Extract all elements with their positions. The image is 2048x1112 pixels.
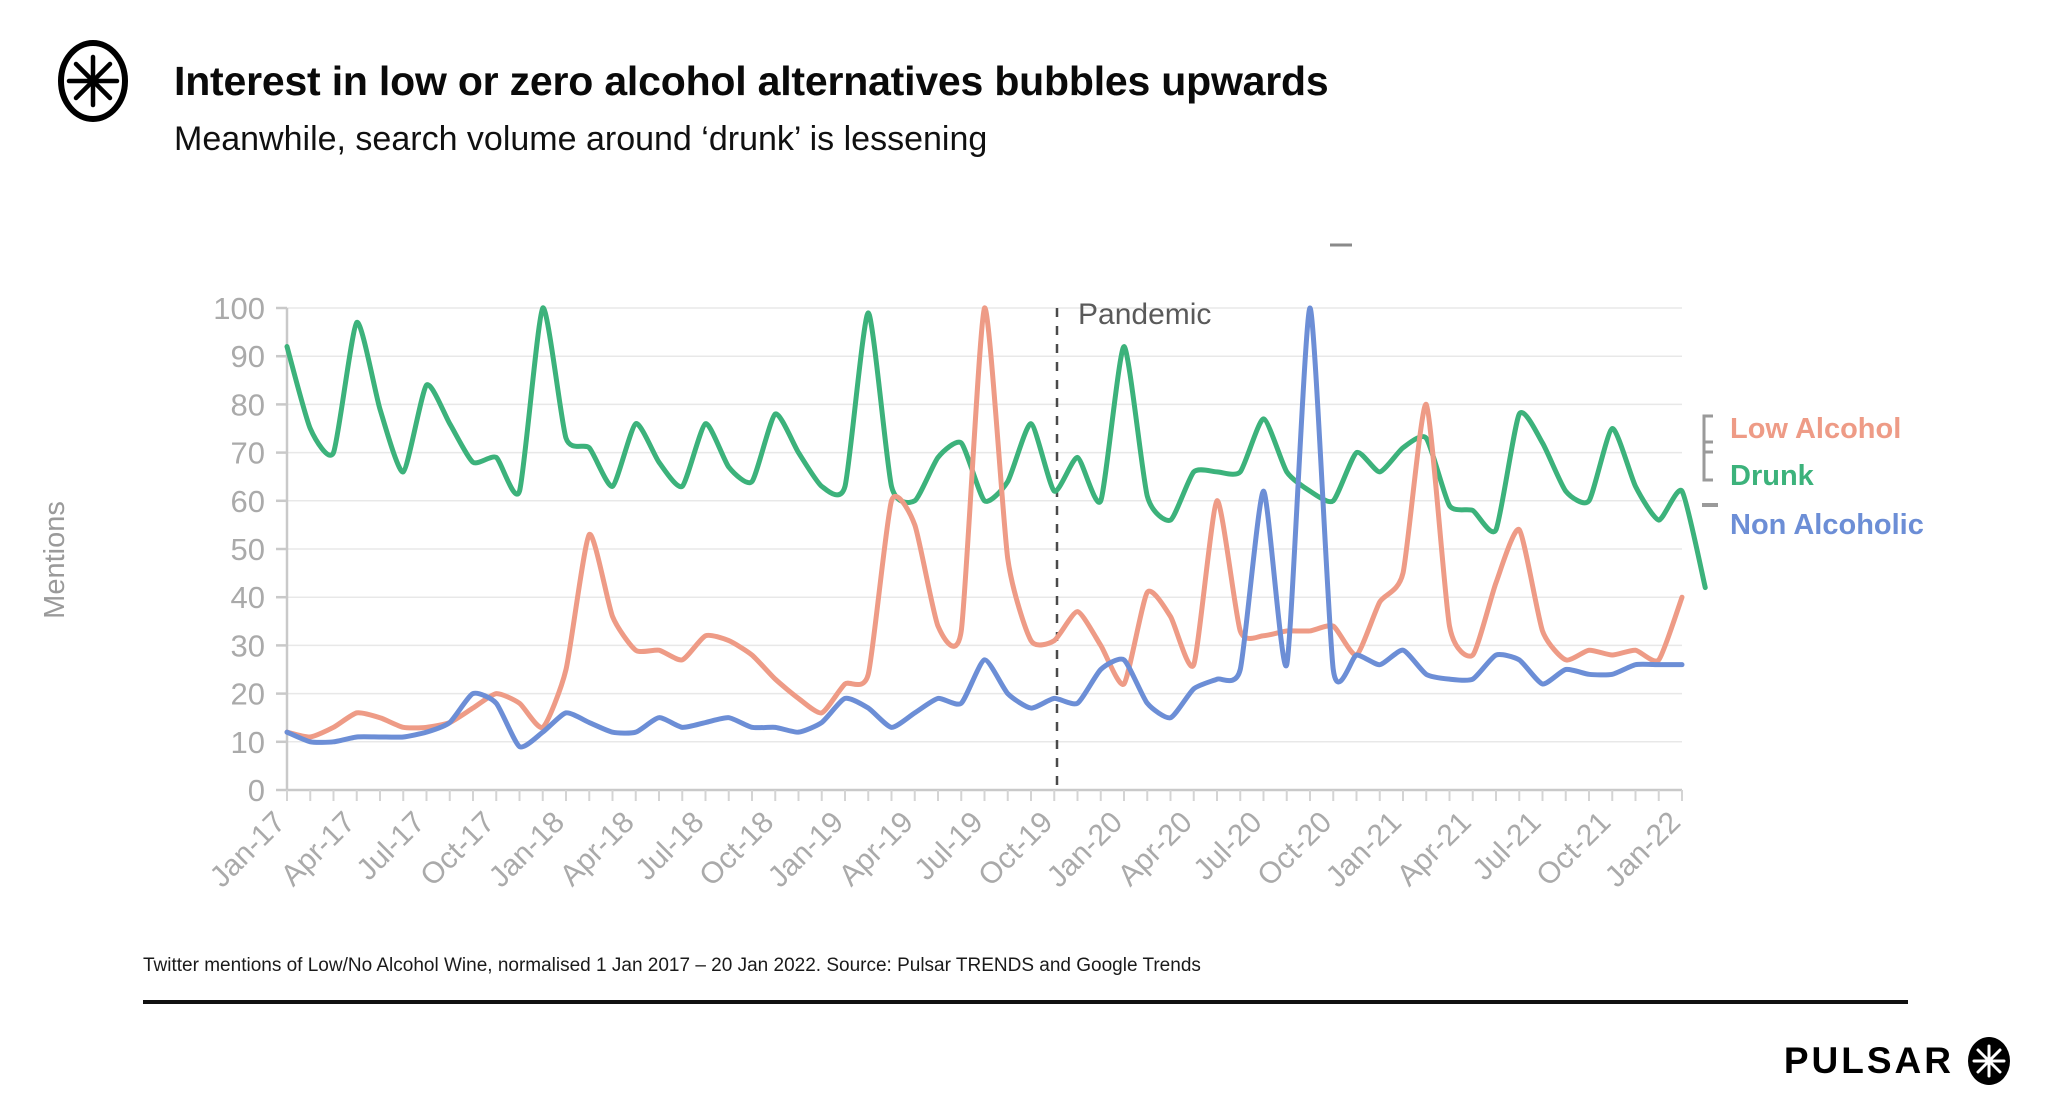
y-tick-label: 100 (213, 291, 265, 326)
series-line-low-alcohol (287, 308, 1682, 737)
x-tick-label: Oct-19 (972, 806, 1059, 893)
x-tick-label: Oct-21 (1530, 806, 1617, 893)
y-tick-label: 20 (231, 677, 265, 712)
x-tick-label: Apr-18 (554, 806, 641, 893)
x-tick-label: Apr-17 (275, 806, 362, 893)
x-tick-label: Apr-20 (1112, 806, 1199, 893)
x-tick-label: Jan-17 (204, 806, 292, 894)
grid-lines (287, 308, 1682, 790)
chart-container: Mentions 0102030405060708090100 Jan-17Ap… (0, 180, 2048, 940)
x-tick-label: Oct-17 (414, 806, 501, 893)
legend-item-non-alcoholic[interactable]: Non Alcoholic (1730, 509, 1924, 541)
y-tick-label: 90 (231, 339, 265, 374)
x-tick-label: Jan-18 (483, 806, 571, 894)
x-tick-labels: Jan-17Apr-17Jul-17Oct-17Jan-18Apr-18Jul-… (204, 806, 1687, 894)
series-line-non-alcoholic (287, 308, 1682, 747)
brand-wordmark: PULSAR (1784, 1040, 1954, 1082)
legend-connector-bracket-lower (1704, 442, 1713, 480)
page-subtitle: Meanwhile, search volume around ‘drunk’ … (174, 120, 987, 159)
y-tick-label: 30 (231, 628, 265, 663)
y-tick-label: 70 (231, 436, 265, 471)
x-tick-label: Jan-20 (1041, 806, 1129, 894)
legend-item-low-alcohol[interactable]: Low Alcohol (1730, 413, 1901, 445)
x-tick-label: Jan-22 (1599, 806, 1687, 894)
pandemic-annotation-label: Pandemic (1078, 298, 1211, 331)
x-tick-label: Apr-21 (1391, 806, 1478, 893)
y-tick-label: 10 (231, 725, 265, 760)
line-chart: Mentions 0102030405060708090100 Jan-17Ap… (0, 180, 2048, 940)
header: Interest in low or zero alcohol alternat… (0, 0, 2048, 180)
y-tick-label: 40 (231, 580, 265, 615)
pulsar-starburst-icon (56, 40, 130, 122)
y-axis-label: Mentions (39, 501, 71, 619)
x-tick-label: Oct-20 (1251, 806, 1338, 893)
source-footnote: Twitter mentions of Low/No Alcohol Wine,… (143, 955, 1201, 977)
y-axis-ticks (276, 308, 287, 790)
y-tick-label: 0 (248, 773, 265, 808)
brand-lockup: PULSAR (1784, 1030, 2014, 1092)
y-tick-label: 60 (231, 484, 265, 519)
footer-divider (143, 1000, 1908, 1004)
y-tick-label: 50 (231, 532, 265, 567)
x-tick-label: Oct-18 (693, 806, 780, 893)
x-tick-label: Apr-19 (833, 806, 920, 893)
y-tick-labels: 0102030405060708090100 (213, 291, 265, 808)
pulsar-starburst-icon (1964, 1035, 2014, 1087)
x-tick-label: Jan-19 (762, 806, 850, 894)
page-title: Interest in low or zero alcohol alternat… (174, 58, 1328, 105)
x-axis-ticks (287, 790, 1682, 801)
x-tick-label: Jan-21 (1320, 806, 1408, 894)
legend-item-drunk[interactable]: Drunk (1730, 460, 1815, 492)
y-tick-label: 80 (231, 387, 265, 422)
